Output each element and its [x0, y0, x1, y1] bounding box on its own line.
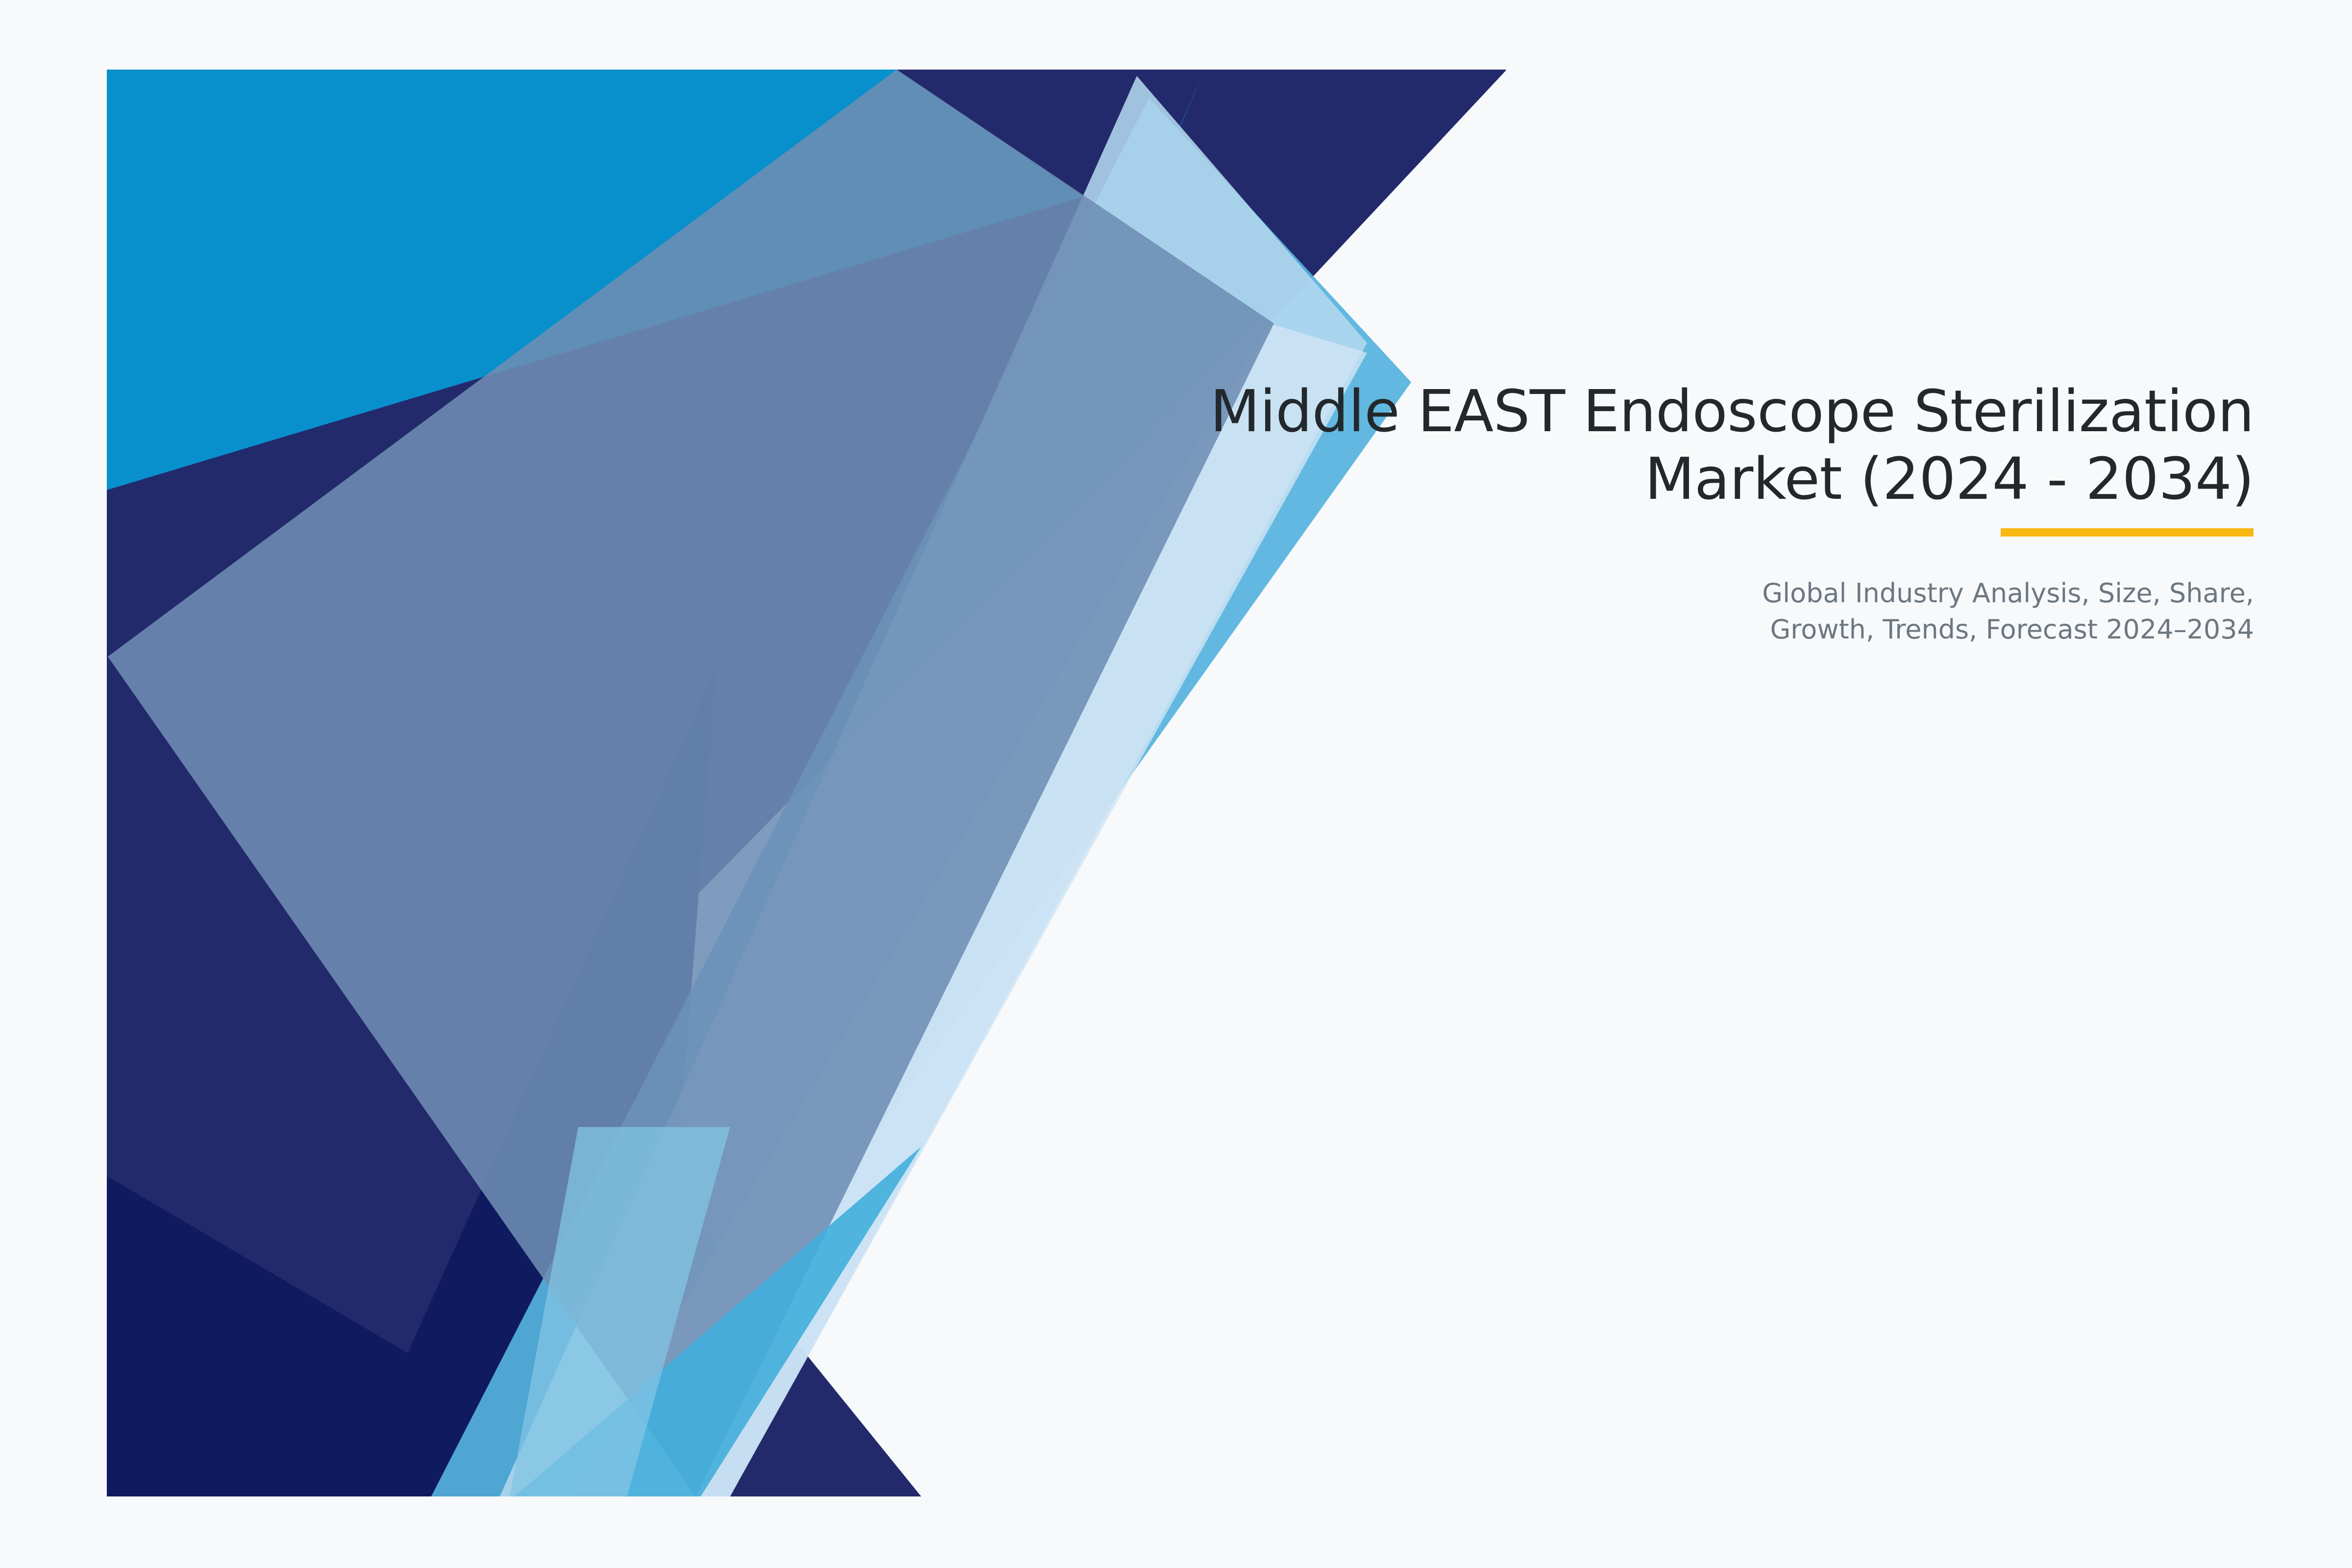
page-title: Middle EAST Endoscope Sterilization Mark… [833, 377, 2254, 513]
page-subtitle: Global Industry Analysis, Size, Share, G… [833, 575, 2254, 647]
cover-text-block: Middle EAST Endoscope Sterilization Mark… [833, 377, 2254, 647]
title-underline-highlight [2001, 528, 2254, 537]
report-cover-page: Middle EAST Endoscope Sterilization Mark… [0, 0, 2352, 1568]
abstract-geometric-artwork [0, 0, 2352, 1568]
